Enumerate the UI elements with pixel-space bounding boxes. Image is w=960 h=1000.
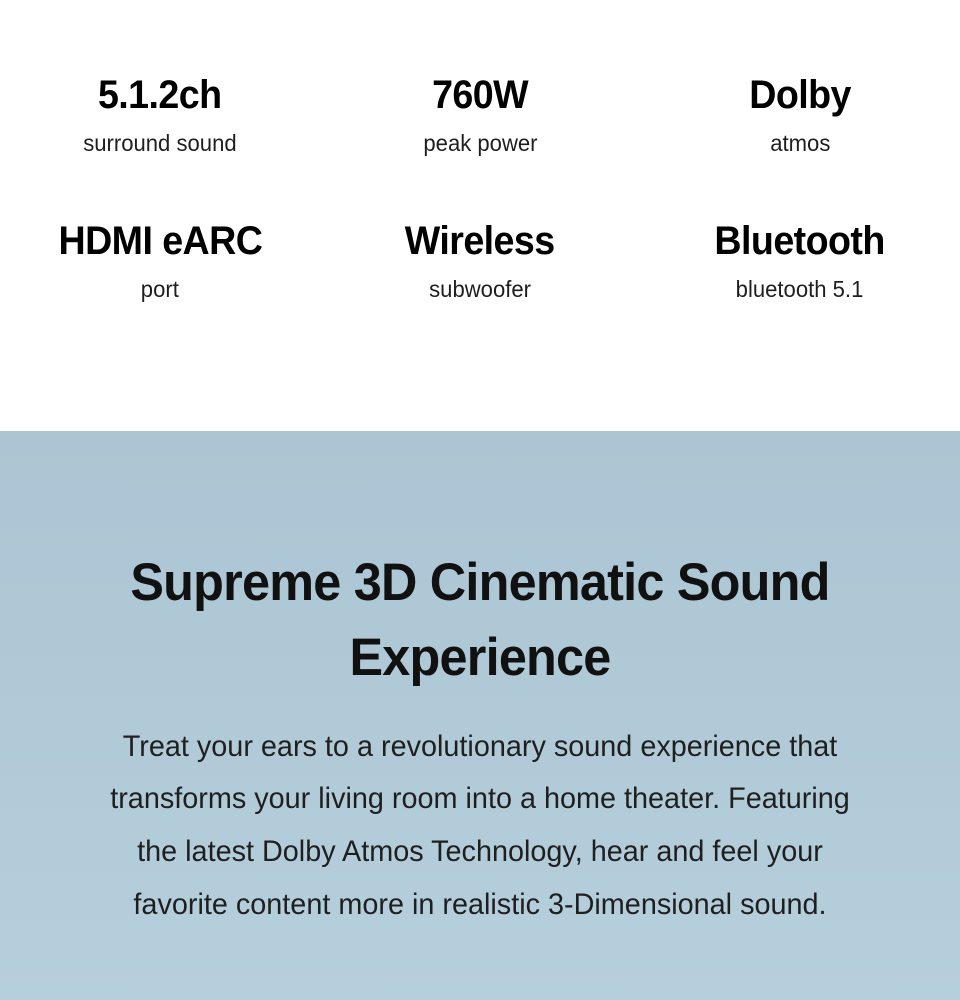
spec-label: port: [141, 276, 179, 304]
specifications-section: 5.1.2ch surround sound 760W peak power D…: [0, 0, 960, 431]
spec-cell-hdmi-earc: HDMI eARC port: [0, 220, 320, 304]
spec-cell-dolby-atmos: Dolby atmos: [640, 74, 960, 158]
spec-cell-peak-power: 760W peak power: [320, 74, 640, 158]
spec-value: Wireless: [405, 220, 555, 263]
spec-cell-bluetooth: Bluetooth bluetooth 5.1: [640, 220, 960, 304]
spec-row-2: HDMI eARC port Wireless subwoofer Blueto…: [0, 220, 960, 304]
spec-label: atmos: [770, 130, 830, 158]
spec-label: subwoofer: [429, 276, 531, 304]
hero-section: Supreme 3D Cinematic Sound Experience Tr…: [0, 431, 960, 1000]
spec-value: 5.1.2ch: [98, 74, 222, 117]
spec-value: 760W: [432, 74, 528, 117]
spec-label: surround sound: [83, 130, 236, 158]
hero-paragraph: Treat your ears to a revolutionary sound…: [101, 721, 859, 932]
product-detail-page: 5.1.2ch surround sound 760W peak power D…: [0, 0, 960, 1000]
hero-heading: Supreme 3D Cinematic Sound Experience: [129, 545, 832, 696]
spec-value: HDMI eARC: [58, 220, 262, 263]
spec-cell-surround-sound: 5.1.2ch surround sound: [0, 74, 320, 158]
spec-row-1: 5.1.2ch surround sound 760W peak power D…: [0, 74, 960, 158]
spec-cell-wireless-subwoofer: Wireless subwoofer: [320, 220, 640, 304]
spec-value: Bluetooth: [715, 220, 885, 263]
spec-label: bluetooth 5.1: [736, 276, 864, 304]
spec-value: Dolby: [749, 74, 851, 117]
spec-label: peak power: [423, 130, 537, 158]
